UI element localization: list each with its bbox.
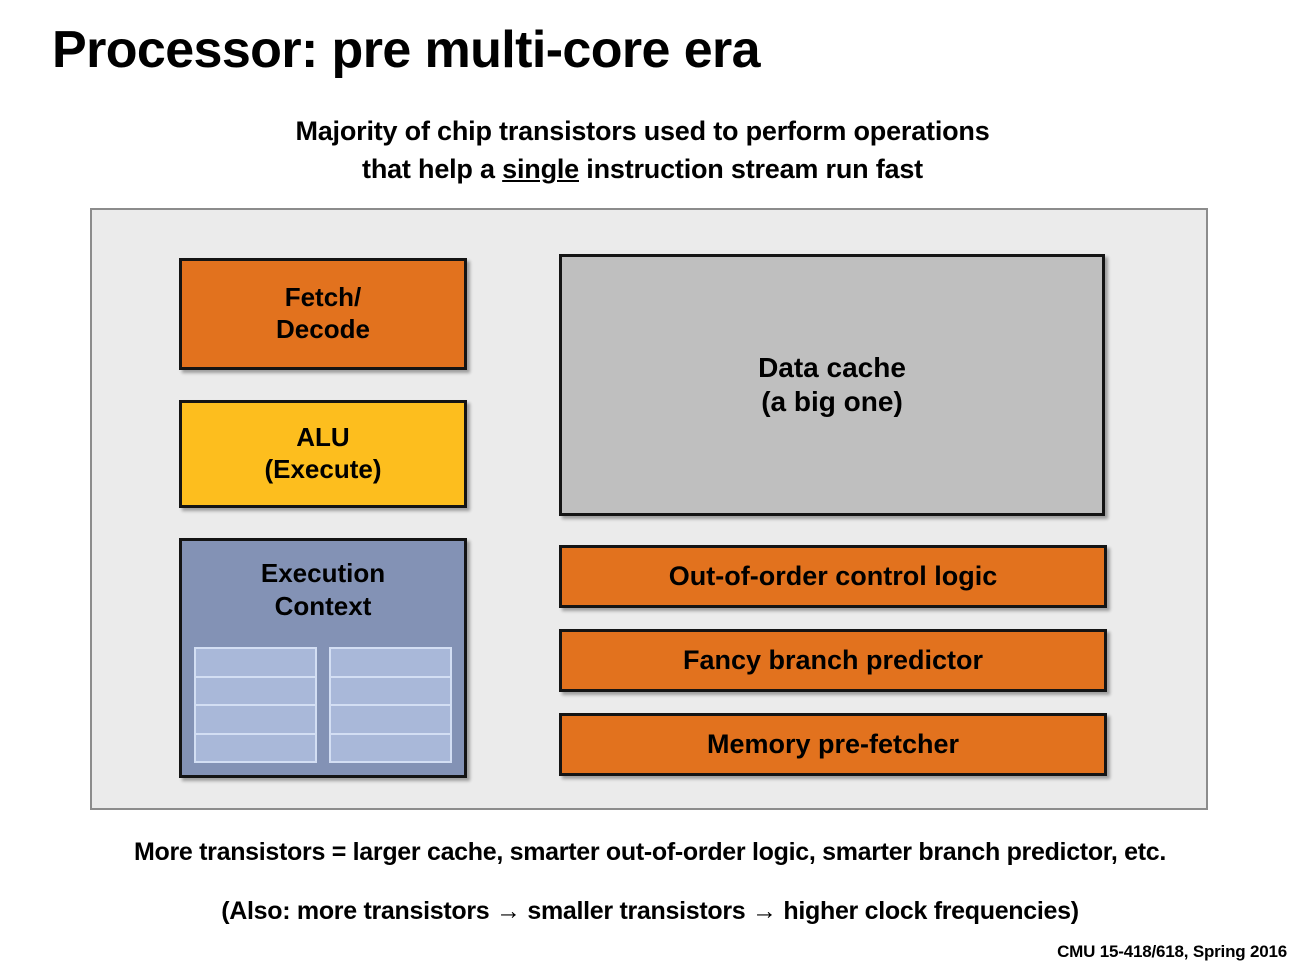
- block-out-of-order-control-logic: Out-of-order control logic: [559, 545, 1107, 608]
- execution-context-line-2: Context: [275, 591, 372, 621]
- register-cell: [329, 733, 452, 764]
- block-execution-context: Execution Context: [179, 538, 467, 778]
- subtitle-line-2-before: that help a: [362, 154, 502, 184]
- alu-line-2: (Execute): [264, 454, 381, 484]
- note-line-2: (Also: more transistors → smaller transi…: [0, 897, 1300, 926]
- branch-predictor-label: Fancy branch predictor: [683, 644, 983, 677]
- data-cache-line-2: (a big one): [761, 386, 903, 417]
- register-column: [194, 647, 317, 763]
- memory-prefetcher-label: Memory pre-fetcher: [707, 728, 959, 761]
- register-cell: [194, 676, 317, 707]
- note-line-1: More transistors = larger cache, smarter…: [0, 838, 1300, 867]
- page-title: Processor: pre multi-core era: [52, 24, 760, 76]
- block-data-cache-label: Data cache (a big one): [758, 351, 906, 419]
- subtitle-line-1: Majority of chip transistors used to per…: [0, 112, 1285, 150]
- subtitle-emphasis-single: single: [502, 154, 579, 184]
- alu-line-1: ALU: [296, 422, 349, 452]
- register-cell: [329, 676, 452, 707]
- block-branch-predictor: Fancy branch predictor: [559, 629, 1107, 692]
- block-execution-context-label: Execution Context: [261, 557, 385, 622]
- subtitle-line-2-after: instruction stream run fast: [579, 154, 923, 184]
- register-cell: [194, 733, 317, 764]
- fetch-decode-line-1: Fetch/: [285, 282, 362, 312]
- register-cell: [329, 704, 452, 735]
- slide-notes: More transistors = larger cache, smarter…: [0, 838, 1300, 926]
- block-fetch-decode: Fetch/ Decode: [179, 258, 467, 370]
- course-footer: CMU 15-418/618, Spring 2016: [1057, 942, 1287, 962]
- fetch-decode-line-2: Decode: [276, 314, 370, 344]
- register-cell: [194, 647, 317, 678]
- subtitle-line-2: that help a single instruction stream ru…: [0, 150, 1285, 188]
- block-alu-label: ALU (Execute): [264, 422, 381, 485]
- register-cell: [329, 647, 452, 678]
- block-fetch-decode-label: Fetch/ Decode: [276, 282, 370, 345]
- block-memory-prefetcher: Memory pre-fetcher: [559, 713, 1107, 776]
- register-cell: [194, 704, 317, 735]
- block-data-cache: Data cache (a big one): [559, 254, 1105, 516]
- slide-subtitle: Majority of chip transistors used to per…: [0, 112, 1285, 189]
- slide-root: { "slide": { "title": "Processor: pre mu…: [0, 0, 1305, 978]
- processor-diagram-panel: Fetch/ Decode ALU (Execute) Execution Co…: [90, 208, 1208, 810]
- out-of-order-label: Out-of-order control logic: [669, 560, 997, 593]
- data-cache-line-1: Data cache: [758, 352, 906, 383]
- block-alu: ALU (Execute): [179, 400, 467, 508]
- register-column: [329, 647, 452, 763]
- execution-context-line-1: Execution: [261, 558, 385, 588]
- register-file-grid: [194, 647, 452, 763]
